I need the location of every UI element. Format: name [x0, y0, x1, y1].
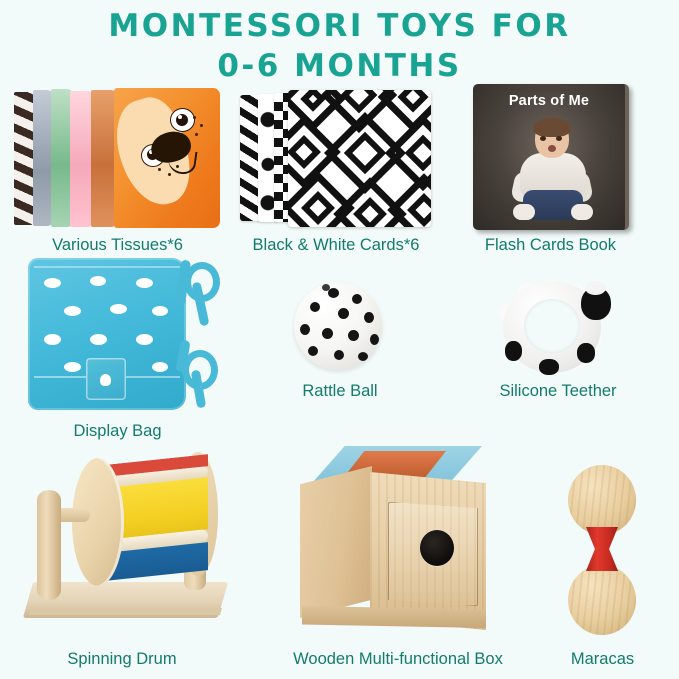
caption-rattle-ball: Rattle Ball: [280, 382, 400, 401]
flash-book-cover-title: Parts of Me: [473, 93, 625, 109]
product-image-black-white-cards: [240, 90, 431, 227]
product-image-rattle-ball: [294, 282, 382, 370]
baby-eye-right: [556, 136, 562, 141]
ball-dot: [370, 334, 379, 345]
bag-body: [28, 258, 186, 410]
product-image-wooden-box: [292, 446, 497, 636]
product-image-spinning-drum: [28, 448, 223, 630]
bag-pocket: [86, 358, 126, 400]
cloud-motif: [90, 276, 106, 286]
box-side-panel: [300, 466, 372, 618]
lion-eye-glint-right: [178, 115, 182, 119]
title-line-2: 0-6 MONTHS: [0, 46, 679, 86]
ball-dot: [334, 350, 344, 360]
baby-hair: [533, 118, 571, 137]
maraca-ball-bottom: [568, 565, 636, 635]
maraca-ball-top: [568, 465, 636, 535]
caption-various-tissues: Various Tissues*6: [10, 236, 225, 255]
ball-dot: [352, 294, 362, 304]
caption-display-bag: Display Bag: [10, 422, 225, 441]
ball-dot: [322, 284, 330, 291]
cloud-motif: [64, 362, 81, 372]
cloud-motif: [44, 278, 61, 288]
bag-top-seam: [34, 266, 180, 268]
ball-dot: [308, 346, 318, 356]
infographic-sheet: MONTESSORI TOYS FOR 0-6 MONTHS Various: [0, 0, 679, 679]
cloud-motif: [152, 306, 168, 316]
ball-dot: [338, 308, 349, 319]
drum-post: [37, 490, 61, 600]
product-image-flash-cards-book: Parts of Me: [473, 84, 629, 230]
cloud-motif: [136, 278, 153, 288]
product-image-various-tissues: [14, 88, 220, 228]
box-bottom-edge: [302, 606, 486, 628]
sheep-head-tuft: [585, 281, 606, 295]
sheep-leg: [539, 359, 559, 375]
ball-dot: [328, 288, 339, 298]
cloud-motif: [100, 374, 111, 386]
cloud-motif: [64, 306, 81, 316]
ball-dot: [358, 352, 368, 361]
lion-freckle: [193, 116, 196, 119]
cloud-motif: [110, 304, 127, 314]
sheep-leg: [505, 341, 522, 361]
cloud-motif: [90, 334, 107, 345]
caption-flash-cards-book: Flash Cards Book: [468, 236, 633, 255]
ball-dot: [300, 324, 310, 335]
baby-mouth: [548, 145, 556, 152]
cloth-page-grey: [33, 90, 53, 226]
card-front-diamonds: [288, 90, 431, 227]
ball-dot: [348, 330, 359, 341]
caption-silicone-teether: Silicone Teether: [478, 382, 638, 401]
baby-foot-left: [513, 204, 535, 220]
sheep-leg: [577, 343, 595, 363]
maraca-handle: [586, 527, 618, 571]
caption-wooden-box: Wooden Multi-functional Box: [268, 650, 528, 669]
title-line-1: MONTESSORI TOYS FOR: [0, 6, 679, 46]
cloud-motif: [136, 334, 153, 345]
cloud-motif: [152, 362, 168, 372]
baby-foot-right: [571, 204, 593, 220]
lion-cover: [114, 88, 220, 228]
drum-base-edge: [29, 608, 222, 615]
cloud-motif: [44, 334, 61, 345]
product-image-silicone-teether: [497, 279, 615, 375]
lion-freckle: [195, 133, 198, 136]
teether-hole: [524, 299, 580, 353]
caption-maracas: Maracas: [540, 650, 665, 669]
ball-dot: [322, 328, 333, 339]
product-image-maracas: [566, 465, 638, 635]
ball-dot: [364, 312, 374, 323]
baby-eye-left: [540, 136, 546, 141]
baby-photo: [509, 120, 595, 225]
box-round-hole: [420, 530, 454, 566]
caption-black-white-cards: Black & White Cards*6: [232, 236, 440, 255]
product-image-display-bag: [28, 258, 218, 410]
drum-disc-left: [72, 458, 124, 586]
page-title: MONTESSORI TOYS FOR 0-6 MONTHS: [0, 6, 679, 86]
ball-dot: [310, 302, 320, 312]
lion-freckle: [200, 124, 203, 127]
caption-spinning-drum: Spinning Drum: [22, 650, 222, 669]
